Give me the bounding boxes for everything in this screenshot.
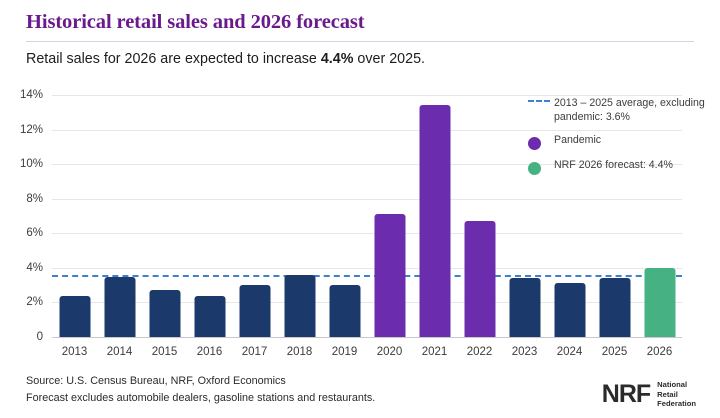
x-axis-tick-label: 2014	[107, 346, 133, 358]
chart-card: Historical retail sales and 2026 forecas…	[0, 0, 720, 418]
footer-notes: Source: U.S. Census Bureau, NRF, Oxford …	[26, 373, 375, 406]
legend-label-average: 2013 – 2025 average, excluding pandemic:…	[554, 97, 708, 125]
nrf-logo-line-2: Retail	[657, 390, 696, 400]
y-axis-tick-label: 0	[37, 331, 43, 343]
bar-group: 2020	[367, 95, 412, 337]
bar[interactable]	[149, 290, 180, 337]
x-axis-tick-label: 2025	[602, 346, 628, 358]
bar-group: 2014	[97, 95, 142, 337]
x-axis-tick-label: 2015	[152, 346, 178, 358]
bar-group: 2018	[277, 95, 322, 337]
green-dot-icon	[528, 159, 554, 175]
bar[interactable]	[329, 285, 360, 337]
bar-group: 2013	[52, 95, 97, 337]
title-divider	[26, 41, 694, 42]
bar[interactable]	[464, 221, 495, 337]
x-axis-tick-label: 2013	[62, 346, 88, 358]
chart-subtitle: Retail sales for 2026 are expected to in…	[26, 51, 425, 67]
nrf-wordmark: NRF	[602, 382, 650, 407]
subtitle-text-before: Retail sales for 2026 are expected to in…	[26, 51, 321, 67]
nrf-logo-line-1: National	[657, 380, 696, 390]
bar-group: 2019	[322, 95, 367, 337]
x-axis-tick-label: 2026	[647, 346, 673, 358]
x-axis-tick-label: 2022	[467, 346, 493, 358]
bar[interactable]	[239, 285, 270, 337]
bar-group: 2021	[412, 95, 457, 337]
dashed-line-icon	[528, 97, 554, 102]
bar[interactable]	[644, 268, 675, 337]
bar[interactable]	[374, 214, 405, 337]
bar[interactable]	[509, 278, 540, 337]
x-axis-tick-label: 2021	[422, 346, 448, 358]
legend-item-pandemic[interactable]: Pandemic	[528, 134, 708, 150]
y-axis-tick-label: 8%	[26, 193, 43, 205]
y-axis-tick-label: 14%	[20, 89, 43, 101]
subtitle-highlight: 4.4%	[321, 51, 354, 67]
y-axis-tick-label: 12%	[20, 124, 43, 136]
purple-dot-icon	[528, 134, 554, 150]
bar[interactable]	[554, 283, 585, 337]
nrf-logo: NRF National Retail Federation	[602, 380, 696, 409]
x-axis-tick-label: 2023	[512, 346, 538, 358]
legend-label-pandemic: Pandemic	[554, 134, 601, 148]
chart-legend: 2013 – 2025 average, excluding pandemic:…	[528, 97, 708, 184]
bar[interactable]	[284, 275, 315, 337]
y-axis-tick-label: 4%	[26, 262, 43, 274]
bar[interactable]	[419, 105, 450, 337]
bar[interactable]	[599, 278, 630, 337]
nrf-logo-line-3: Federation	[657, 399, 696, 409]
y-axis-tick-label: 6%	[26, 227, 43, 239]
x-axis-tick-label: 2020	[377, 346, 403, 358]
bar[interactable]	[194, 296, 225, 337]
bar-group: 2017	[232, 95, 277, 337]
x-axis-tick-label: 2017	[242, 346, 268, 358]
gridline: 0	[52, 337, 682, 338]
x-axis-tick-label: 2016	[197, 346, 223, 358]
x-axis-tick-label: 2019	[332, 346, 358, 358]
y-axis-tick-label: 2%	[26, 296, 43, 308]
bar[interactable]	[59, 296, 90, 337]
x-axis-tick-label: 2018	[287, 346, 313, 358]
legend-item-forecast[interactable]: NRF 2026 forecast: 4.4%	[528, 159, 708, 175]
page-title: Historical retail sales and 2026 forecas…	[26, 11, 364, 34]
bar-group: 2022	[457, 95, 502, 337]
subtitle-text-after: over 2025.	[353, 51, 425, 67]
bar-group: 2015	[142, 95, 187, 337]
legend-label-forecast: NRF 2026 forecast: 4.4%	[554, 159, 673, 173]
bar[interactable]	[104, 277, 135, 338]
nrf-logo-subtext: National Retail Federation	[657, 380, 696, 409]
forecast-note-line: Forecast excludes automobile dealers, ga…	[26, 390, 375, 407]
x-axis-tick-label: 2024	[557, 346, 583, 358]
bar-group: 2016	[187, 95, 232, 337]
source-line: Source: U.S. Census Bureau, NRF, Oxford …	[26, 373, 375, 390]
y-axis-tick-label: 10%	[20, 158, 43, 170]
legend-item-average[interactable]: 2013 – 2025 average, excluding pandemic:…	[528, 97, 708, 125]
